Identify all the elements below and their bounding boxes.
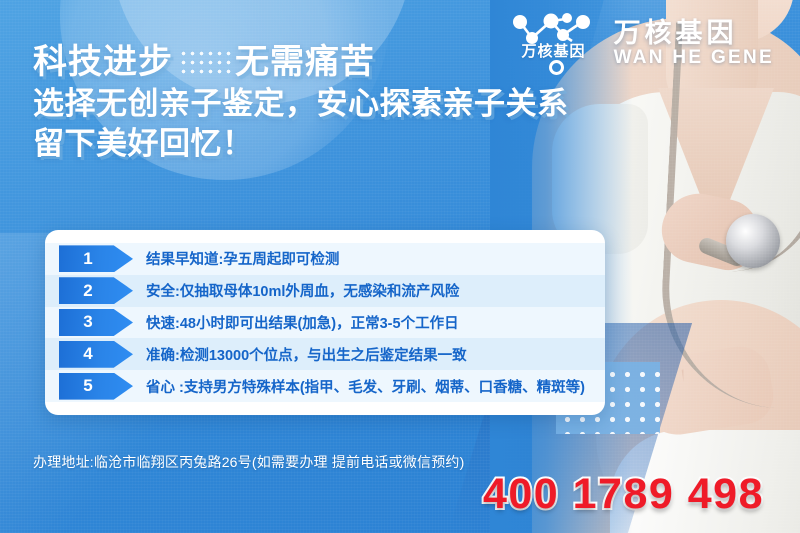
list-item-label: 安全:仅抽取母体10ml外周血，无感染和流产风险 [146, 280, 459, 301]
hotline-phone-number[interactable]: 400 1789 498 [483, 470, 764, 519]
list-item-number-badge: 1 [59, 245, 133, 272]
circle-ring-icon [549, 60, 564, 75]
list-item-label: 准确:检测13000个位点，与出生之后鉴定结果一致 [146, 344, 467, 365]
list-item[interactable]: 2 安全:仅抽取母体10ml外周血，无感染和流产风险 [45, 275, 605, 307]
headline-line1-part1: 科技进步 [33, 40, 173, 84]
list-item-label: 快速:48小时即可出结果(加急)，正常3-5个工作日 [146, 312, 459, 333]
list-item-number-badge: 5 [59, 373, 133, 400]
list-item-number-badge: 3 [59, 309, 133, 336]
brand-name-en: WAN HE GENE [614, 48, 774, 69]
dotted-separator-icon [179, 47, 231, 77]
list-item[interactable]: 1 结果早知道:孕五周起即可检测 [45, 243, 605, 275]
promo-banner: 万核基因 万核基因 WAN HE GENE 科技进步 无需痛苦 选择无创亲子鉴定… [0, 0, 800, 533]
brand-logo[interactable]: 万核基因 万核基因 WAN HE GENE [506, 8, 774, 78]
list-item-label: 省心 :支持男方特殊样本(指甲、毛发、牙刷、烟蒂、口香糖、精斑等) [146, 376, 585, 397]
molecule-network-icon: 万核基因 [506, 8, 602, 78]
list-item-label: 结果早知道:孕五周起即可检测 [146, 248, 339, 269]
headline-line-2: 选择无创亲子鉴定，安心探索亲子关系 [33, 84, 569, 124]
headline-line-3: 留下美好回忆！ [33, 124, 569, 164]
list-item-number-badge: 4 [59, 341, 133, 368]
list-item[interactable]: 5 省心 :支持男方特殊样本(指甲、毛发、牙刷、烟蒂、口香糖、精斑等) [45, 370, 605, 402]
list-item[interactable]: 4 准确:检测13000个位点，与出生之后鉴定结果一致 [45, 338, 605, 370]
list-item[interactable]: 3 快速:48小时即可出结果(加急)，正常3-5个工作日 [45, 307, 605, 339]
list-item-number-badge: 2 [59, 277, 133, 304]
headline-line-1: 科技进步 无需痛苦 [33, 40, 569, 84]
feature-list-card: 1 结果早知道:孕五周起即可检测 2 安全:仅抽取母体10ml外周血，无感染和流… [45, 230, 605, 415]
headline-block: 科技进步 无需痛苦 选择无创亲子鉴定，安心探索亲子关系 留下美好回忆！ [33, 40, 569, 165]
brand-name-cn: 万核基因 [614, 19, 738, 48]
office-address: 办理地址:临沧市临翔区丙兔路26号(如需要办理 提前电话或微信预约) [33, 452, 464, 472]
logo-mark-label: 万核基因 [506, 40, 602, 61]
headline-line1-part2: 无需痛苦 [235, 40, 375, 84]
feature-rows: 1 结果早知道:孕五周起即可检测 2 安全:仅抽取母体10ml外周血，无感染和流… [45, 243, 605, 402]
